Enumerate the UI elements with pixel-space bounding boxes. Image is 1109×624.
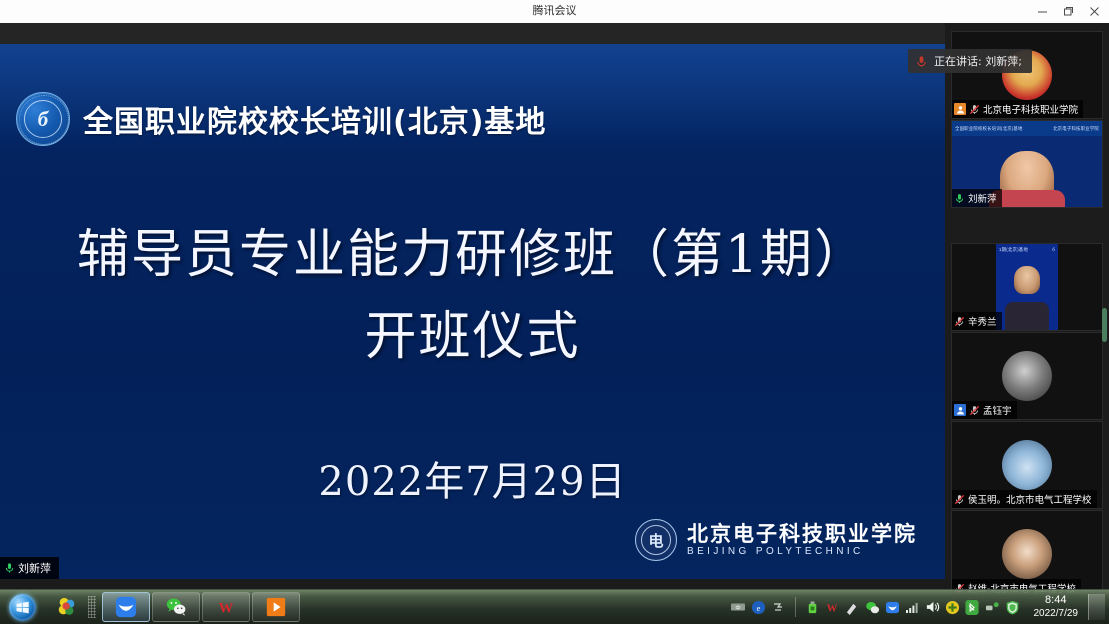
seal-glyph: б <box>17 93 69 145</box>
footer-seal-glyph: 电 <box>636 520 676 560</box>
svg-text:中: 中 <box>735 604 740 612</box>
footer-logo-cn: 北京电子科技职业学院 <box>687 523 917 545</box>
taskbar-item-wechat[interactable] <box>152 592 200 622</box>
slide-footer-logo: 电 北京电子科技职业学院 BEIJING POLYTECHNIC <box>635 519 917 561</box>
slide-title-line2: 开班仪式 <box>0 294 945 369</box>
speaking-now-text: 正在讲话: 刘新萍; <box>934 53 1022 69</box>
avatar <box>1002 351 1052 401</box>
close-icon[interactable] <box>1081 0 1107 23</box>
network-icon[interactable] <box>985 600 1000 615</box>
video-face <box>1014 266 1040 294</box>
participant-name: 辛秀兰 <box>968 314 997 328</box>
taskbar-task-buttons: W <box>102 592 300 622</box>
mic-muted-icon <box>954 494 965 505</box>
wechat-tray-icon[interactable] <box>865 600 880 615</box>
tencent-meeting-icon <box>115 596 137 618</box>
speaking-now-tooltip: 正在讲话: 刘新萍; <box>908 49 1032 73</box>
beijing-polytechnic-seal-icon: 电 <box>635 519 677 561</box>
windows-taskbar: W 中 e <box>0 589 1109 624</box>
security-shield-icon[interactable] <box>1005 600 1020 615</box>
mic-on-icon <box>954 193 965 204</box>
show-desktop-button[interactable] <box>1088 594 1105 620</box>
participant-namebar: 刘新萍 <box>952 189 1002 207</box>
participant-tile[interactable]: 1期(北京)基地 б 辛秀兰 <box>951 243 1103 331</box>
avatar <box>1002 440 1052 490</box>
toolbar-grip[interactable] <box>88 596 96 618</box>
video-slide-caption: 全国职业院校校长培训(北京)基地 北京电子科技职业学院 <box>952 121 1102 136</box>
participant-namebar: 辛秀兰 <box>952 312 1002 330</box>
wechat-icon <box>165 596 187 618</box>
participant-name: 侯玉明。北京市电气工程学校 <box>968 492 1092 506</box>
ime-icon[interactable]: 中 <box>731 600 746 615</box>
mic-muted-icon <box>969 104 980 115</box>
start-button[interactable] <box>0 591 44 623</box>
caption-right: 北京电子科技职业学院 <box>1053 126 1099 132</box>
taskbar-item-wps[interactable]: W <box>202 592 250 622</box>
participant-tile[interactable]: 赵维-北京市电气工程学校 <box>951 510 1103 598</box>
participant-tile[interactable]: 全国职业院校校长培训(北京)基地 北京电子科技职业学院 刘新萍 <box>951 120 1103 208</box>
caption-right: б <box>1052 247 1055 252</box>
sogou-icon[interactable] <box>771 600 786 615</box>
svg-text:e: e <box>756 602 760 612</box>
participant-name: 孟钰宇 <box>983 403 1012 417</box>
clock-time: 8:44 <box>1045 594 1066 608</box>
minimize-icon[interactable] <box>1029 0 1055 23</box>
window-title: 腾讯会议 <box>0 0 1109 23</box>
internet-explorer-icon[interactable]: e <box>751 600 766 615</box>
volume-icon[interactable] <box>925 600 940 615</box>
scrollbar-thumb[interactable] <box>1102 308 1107 342</box>
slide-title-line1: 辅导员专业能力研修班（第1期） <box>0 212 945 287</box>
slide-header: б 全国职业院校校长培训(北京)基地 <box>16 92 546 146</box>
mic-muted-icon <box>954 316 965 327</box>
video-inner: 1期(北京)基地 б <box>996 244 1058 330</box>
svg-text:W: W <box>827 603 838 614</box>
avatar <box>1002 529 1052 579</box>
clock-date: 2022/7/29 <box>1034 608 1079 621</box>
video-body <box>1005 302 1049 330</box>
shared-screen-stage: б 全国职业院校校长培训(北京)基地 辅导员专业能力研修班（第1期） 开班仪式 … <box>0 23 945 579</box>
system-tray: 中 e W <box>725 590 1109 624</box>
window-controls <box>1029 0 1107 23</box>
self-name: 刘新萍 <box>18 560 51 576</box>
self-name-label: 刘新萍 <box>0 557 59 579</box>
slide-date: 2022年7月29日 <box>0 449 945 507</box>
caption-left: 全国职业院校校长培训(北京)基地 <box>955 126 1023 132</box>
media-player-icon <box>265 596 287 618</box>
svg-text:W: W <box>219 601 234 617</box>
wps-tray-icon[interactable]: W <box>825 600 840 615</box>
window-title-bar: 腾讯会议 <box>0 0 1109 24</box>
presentation-slide: б 全国职业院校校长培训(北京)基地 辅导员专业能力研修班（第1期） 开班仪式 … <box>0 44 945 579</box>
pen-tray-icon[interactable] <box>845 600 860 615</box>
ime-tray-group[interactable]: 中 e <box>725 594 792 620</box>
taskbar-item-media-player[interactable] <box>252 592 300 622</box>
participant-name: 北京电子科技职业学院 <box>983 102 1078 116</box>
wps-icon: W <box>215 596 237 618</box>
participant-tile[interactable]: 侯玉明。北京市电气工程学校 <box>951 421 1103 509</box>
video-slide-caption: 1期(北京)基地 б <box>996 244 1058 255</box>
tencent-meeting-window: 腾讯会议 <box>0 0 1109 624</box>
speaking-mic-icon <box>914 54 928 68</box>
footer-logo-text: 北京电子科技职业学院 BEIJING POLYTECHNIC <box>687 523 917 558</box>
windows-start-orb-icon <box>9 594 36 621</box>
network-signal-icon[interactable] <box>905 600 920 615</box>
participant-namebar: 孟钰宇 <box>952 401 1017 419</box>
participant-namebar: 侯玉明。北京市电气工程学校 <box>952 490 1097 508</box>
participant-rail[interactable]: 北京电子科技职业学院 全国职业院校校长培训(北京)基地 北京电子科技职业学院 刘… <box>945 23 1109 579</box>
taskbar-item-tencent-meeting[interactable] <box>102 592 150 622</box>
caption-left: 1期(北京)基地 <box>999 247 1028 253</box>
training-base-seal-icon: б <box>16 92 70 146</box>
avatar-square-icon <box>954 103 966 115</box>
footer-logo-en: BEIJING POLYTECHNIC <box>687 547 917 558</box>
participant-tile[interactable]: 孟钰宇 <box>951 332 1103 420</box>
media-colors-icon[interactable] <box>54 594 80 620</box>
restore-icon[interactable] <box>1055 0 1081 23</box>
mic-on-icon <box>4 563 15 574</box>
avatar-square-icon <box>954 404 966 416</box>
update-icon[interactable] <box>945 600 960 615</box>
participant-name: 刘新萍 <box>968 191 997 205</box>
tray-icons-group[interactable]: W <box>799 594 1026 620</box>
slide-background: б 全国职业院校校长培训(北京)基地 辅导员专业能力研修班（第1期） 开班仪式 … <box>0 44 945 579</box>
mic-muted-icon <box>969 405 980 416</box>
bluetooth-icon[interactable] <box>965 600 980 615</box>
taskbar-clock[interactable]: 8:44 2022/7/29 <box>1026 594 1087 620</box>
usb-safely-remove-icon[interactable] <box>805 600 820 615</box>
quick-launch-bar <box>44 594 102 620</box>
participant-namebar: 北京电子科技职业学院 <box>952 100 1083 118</box>
tray-divider <box>795 597 796 617</box>
tencent-meeting-tray-icon[interactable] <box>885 600 900 615</box>
participant-rail-scrollbar[interactable] <box>1103 23 1108 579</box>
participant-tile[interactable]: 北京电子科技职业学院 <box>951 31 1103 119</box>
slide-header-org: 全国职业院校校长培训(北京)基地 <box>83 97 546 141</box>
